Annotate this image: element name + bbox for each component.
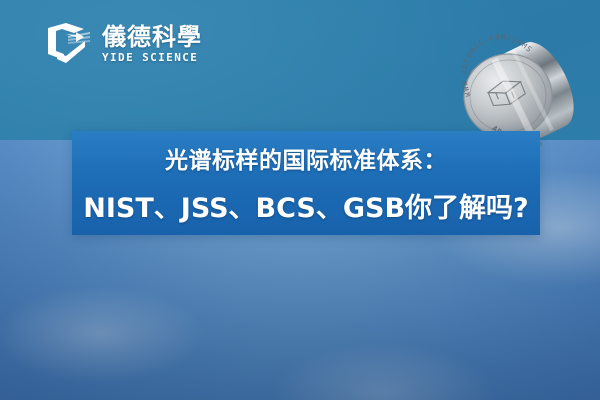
poster-canvas: 儀德科學 YIDE SCIENCE [0, 0, 600, 400]
yide-chevron-play-logo-icon [44, 20, 94, 68]
company-logo[interactable]: 儀德科學 YIDE SCIENCE [44, 20, 202, 68]
logo-wordmark: 儀德科學 YIDE SCIENCE [102, 25, 202, 63]
logo-company-name-en: YIDE SCIENCE [102, 52, 202, 63]
title-line-1: 光谱标样的国际标准体系： [165, 141, 447, 175]
title-banner: 光谱标样的国际标准体系： NIST、JSS、BCS、GSB你了解吗? [72, 131, 540, 235]
logo-company-name-cn: 儀德科學 [102, 25, 202, 49]
title-line-2: NIST、JSS、BCS、GSB你了解吗? [83, 186, 528, 225]
